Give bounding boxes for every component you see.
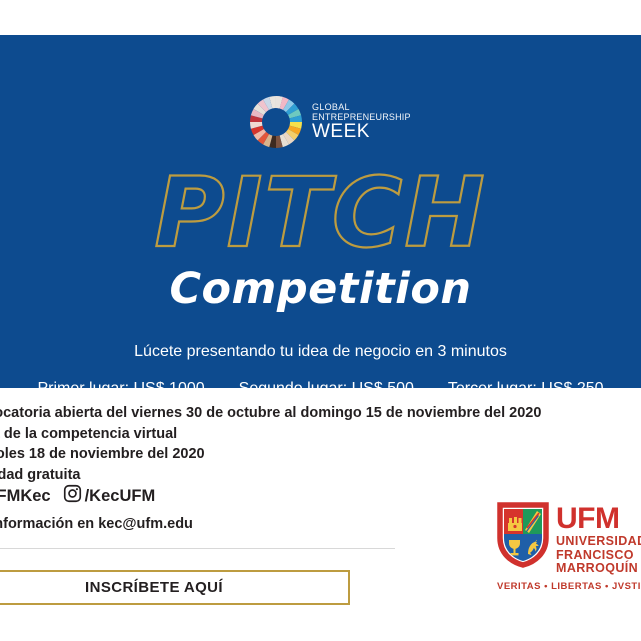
contact-email-line[interactable]: Más información en kec@ufm.edu bbox=[0, 516, 193, 532]
ufm-logo-row: UFM UNIVERSIDAD FRANCISCO MARROQUÍN bbox=[497, 502, 641, 575]
gew-line-global: GLOBAL bbox=[312, 103, 411, 112]
page-title: PITCH bbox=[0, 165, 641, 261]
gew-logo-text: GLOBAL ENTREPRENEURSHIP WEEK bbox=[312, 103, 411, 141]
ufm-acronym: UFM bbox=[556, 504, 641, 534]
hero-banner: GLOBAL ENTREPRENEURSHIP WEEK PITCH Compe… bbox=[0, 35, 641, 388]
tagline: Lúcete presentando tu idea de negocio en… bbox=[0, 343, 641, 361]
gew-logo: GLOBAL ENTREPRENEURSHIP WEEK bbox=[248, 94, 423, 150]
gew-line-entrepreneurship: ENTREPRENEURSHIP bbox=[312, 113, 411, 122]
info-line-free: Actividad gratuita bbox=[0, 465, 578, 486]
page-subtitle: Competition bbox=[0, 268, 641, 311]
ufm-logo-wordmark: UFM UNIVERSIDAD FRANCISCO MARROQUÍN bbox=[556, 502, 641, 575]
info-line-call: Convocatoria abierta del viernes 30 de o… bbox=[0, 403, 578, 424]
section-divider bbox=[0, 548, 395, 549]
facebook-handle[interactable]: /UFMKec bbox=[0, 487, 51, 506]
ufm-logo: UFM UNIVERSIDAD FRANCISCO MARROQUÍN VERI… bbox=[497, 502, 641, 607]
info-line-date-value: Miércoles 18 de noviembre del 2020 bbox=[0, 444, 578, 465]
ufm-name-line2: FRANCISCO bbox=[556, 549, 641, 562]
event-info-block: Convocatoria abierta del viernes 30 de o… bbox=[0, 403, 578, 485]
ufm-shield-icon bbox=[497, 502, 549, 568]
prize-third: Tercer lugar: US$ 250 bbox=[448, 380, 604, 388]
poster-canvas: GLOBAL ENTREPRENEURSHIP WEEK PITCH Compe… bbox=[0, 0, 641, 641]
register-button[interactable]: INSCRÍBETE AQUÍ bbox=[0, 570, 350, 605]
prize-list: Primer lugar: US$ 1000 Segundo lugar: US… bbox=[0, 380, 641, 388]
ufm-name-line1: UNIVERSIDAD bbox=[556, 535, 641, 548]
instagram-handle[interactable]: /KecUFM bbox=[85, 487, 156, 506]
prize-first: Primer lugar: US$ 1000 bbox=[37, 380, 204, 388]
info-line-date-label: Fecha de la competencia virtual bbox=[0, 424, 578, 445]
ufm-name-line3: MARROQUÍN bbox=[556, 562, 641, 575]
prize-second: Segundo lugar: US$ 500 bbox=[239, 380, 414, 388]
instagram-icon[interactable] bbox=[63, 484, 82, 508]
ufm-motto: VERITAS • LIBERTAS • JVSTITIA bbox=[497, 581, 641, 592]
gew-line-week: WEEK bbox=[312, 122, 411, 141]
social-links: /UFMKec /KecUFM bbox=[0, 484, 155, 508]
gew-color-ring-icon bbox=[248, 94, 304, 150]
